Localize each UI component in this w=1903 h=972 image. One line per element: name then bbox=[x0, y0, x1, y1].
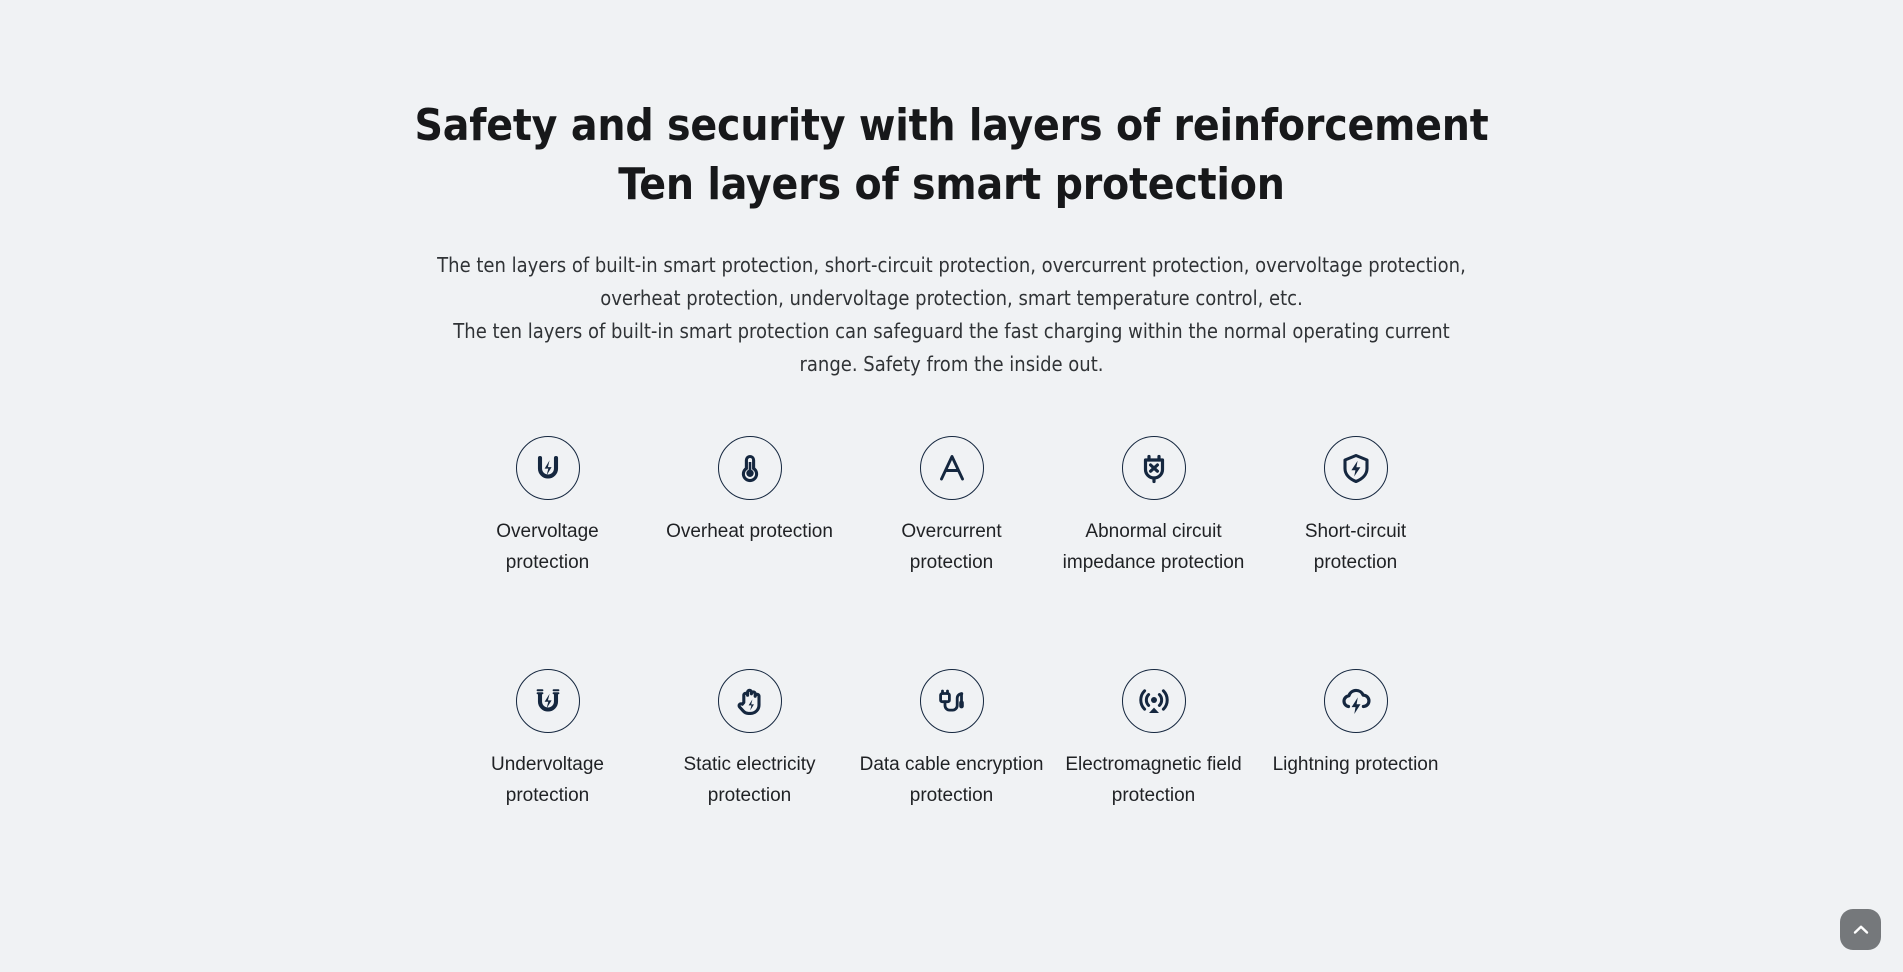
feature-item-undervoltage: Undervoltage protection bbox=[447, 669, 649, 811]
u-magnet-bolt-icon bbox=[516, 436, 580, 500]
feature-label: Short-circuit protection bbox=[1263, 516, 1449, 578]
feature-item-overheat: Overheat protection bbox=[649, 436, 851, 578]
feature-item-lightning: Lightning protection bbox=[1255, 669, 1457, 811]
u-magnet-bolt-icon bbox=[516, 669, 580, 733]
feature-item-electromagnetic-field: Electromagnetic field protection bbox=[1053, 669, 1255, 811]
feature-label: Undervoltage protection bbox=[455, 749, 641, 811]
hand-bolt-icon bbox=[718, 669, 782, 733]
feature-label: Overvoltage protection bbox=[455, 516, 641, 578]
feature-label: Overcurrent protection bbox=[859, 516, 1045, 578]
feature-label: Overheat protection bbox=[666, 516, 833, 547]
shield-bolt-icon bbox=[1324, 436, 1388, 500]
page-title-line-2: Ten layers of smart protection bbox=[0, 155, 1903, 214]
feature-item-abnormal-impedance: Abnormal circuit impedance protection bbox=[1053, 436, 1255, 578]
feature-label: Static electricity protection bbox=[657, 749, 843, 811]
feature-label: Lightning protection bbox=[1273, 749, 1439, 780]
feature-grid-row-1: Overvoltage protection Overheat protecti… bbox=[447, 436, 1457, 578]
plug-cable-icon bbox=[920, 669, 984, 733]
feature-item-static-electricity: Static electricity protection bbox=[649, 669, 851, 811]
subtitle-paragraph-1: The ten layers of built-in smart protect… bbox=[437, 249, 1467, 315]
feature-item-data-cable-encryption: Data cable encryption protection bbox=[851, 669, 1053, 811]
feature-label: Electromagnetic field protection bbox=[1061, 749, 1247, 811]
feature-item-short-circuit: Short-circuit protection bbox=[1255, 436, 1457, 578]
letter-a-ampere-icon bbox=[920, 436, 984, 500]
heading-block: Safety and security with layers of reinf… bbox=[0, 0, 1903, 214]
feature-label: Data cable encryption protection bbox=[859, 749, 1045, 811]
feature-label: Abnormal circuit impedance protection bbox=[1061, 516, 1247, 578]
page-title-line-1: Safety and security with layers of reinf… bbox=[0, 96, 1903, 155]
antenna-waves-icon bbox=[1122, 669, 1186, 733]
scroll-to-top-button[interactable] bbox=[1840, 909, 1881, 950]
feature-item-overcurrent: Overcurrent protection bbox=[851, 436, 1053, 578]
subtitle-block: The ten layers of built-in smart protect… bbox=[0, 249, 1903, 381]
plug-x-icon bbox=[1122, 436, 1186, 500]
subtitle-paragraph-2: The ten layers of built-in smart protect… bbox=[437, 315, 1467, 381]
feature-grid-row-2: Undervoltage protection Static electrici… bbox=[447, 633, 1457, 811]
page-root: Safety and security with layers of reinf… bbox=[0, 0, 1903, 972]
thermometer-icon bbox=[718, 436, 782, 500]
chevron-up-icon bbox=[1850, 919, 1872, 941]
feature-item-overvoltage: Overvoltage protection bbox=[447, 436, 649, 578]
cloud-bolt-icon bbox=[1324, 669, 1388, 733]
